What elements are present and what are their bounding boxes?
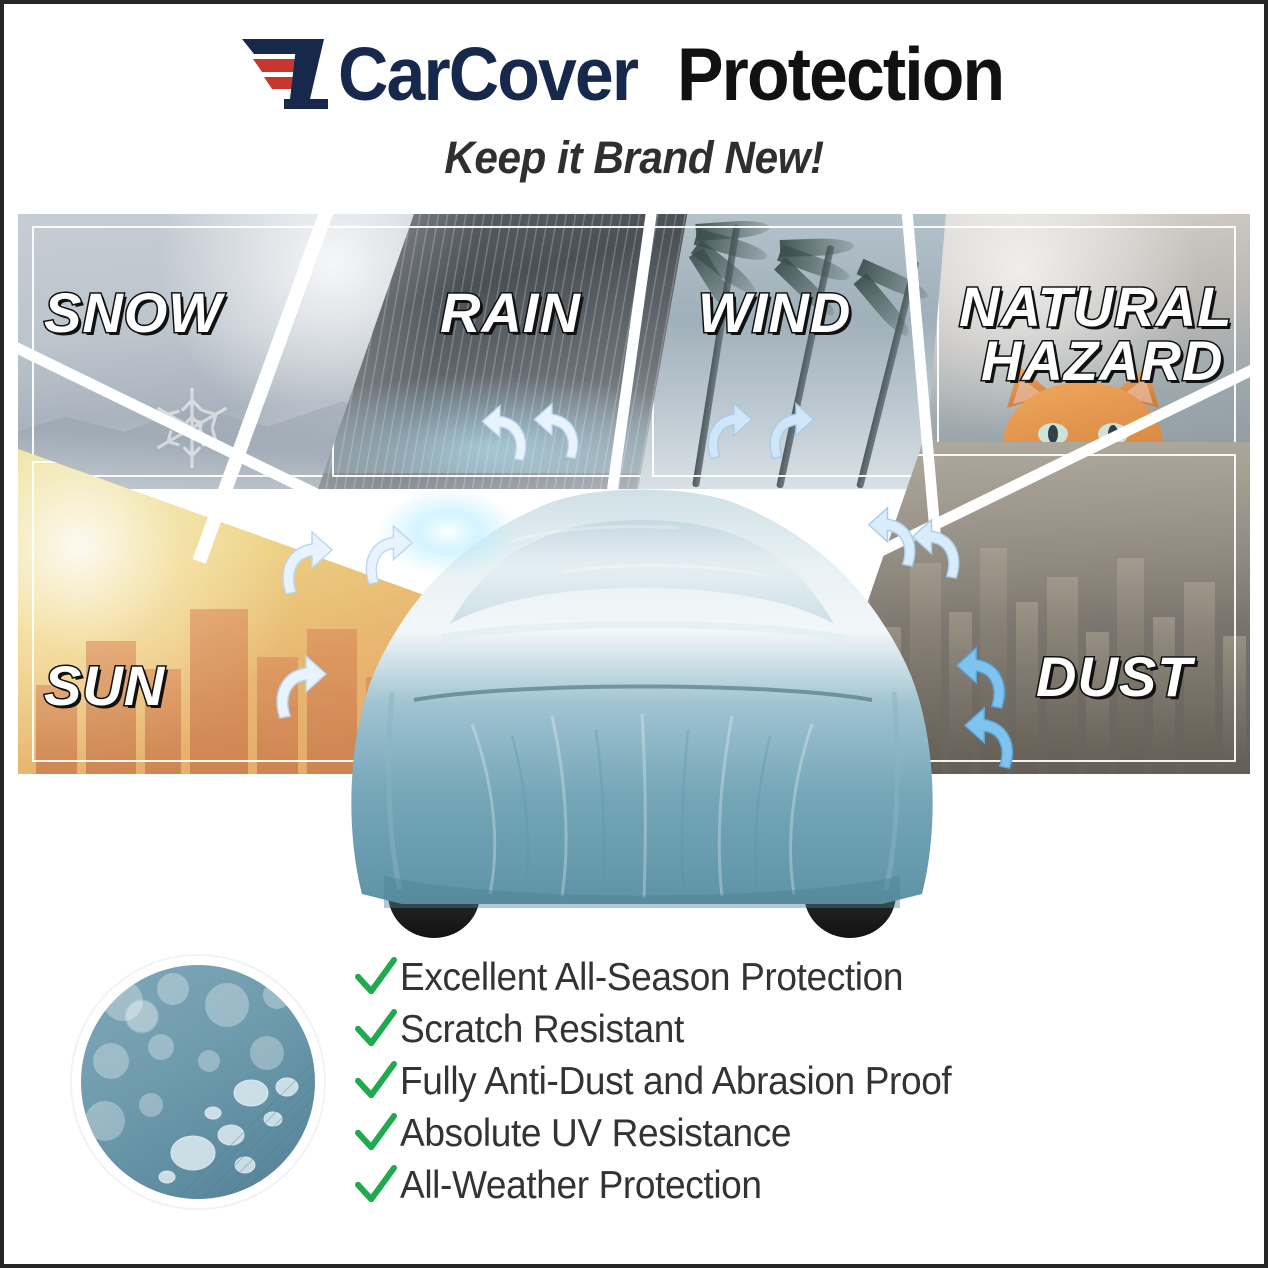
one-car-cover-logo-icon [240,37,336,111]
bounce-arrow-icon [962,704,1024,772]
green-check-icon [352,1110,400,1158]
bounce-arrow-icon [910,516,970,582]
green-check-icon [352,1162,400,1210]
panel-label-dust: DUST [1036,650,1192,705]
page-header: CarCover Protection Keep it Brand New! [4,4,1264,200]
bounce-arrow-icon [532,400,588,462]
bounce-arrow-icon [698,400,754,462]
tagline: Keep it Brand New! [42,132,1226,184]
benefits-section: Excellent All-Season Protection Scratch … [4,934,1264,1264]
panel-label-hazard-2: HAZARD [981,334,1223,389]
list-item: Excellent All-Season Protection [352,952,1172,1004]
list-item: Fully Anti-Dust and Abrasion Proof [352,1056,1172,1108]
brand-suffix: Protection [677,37,1003,112]
feature-label: All-Weather Protection [400,1164,762,1208]
water-bead-fabric-swatch [72,956,324,1208]
bounce-arrow-icon [272,528,334,598]
list-item: Scratch Resistant [352,1004,1172,1056]
bounce-arrow-icon [480,402,536,464]
panel-label-snow: SNOW [44,286,222,341]
bounce-arrow-icon [266,652,328,722]
feature-label: Absolute UV Resistance [400,1112,791,1156]
green-check-icon [352,1006,400,1054]
panel-label-rain: RAIN [440,286,581,341]
feature-label: Excellent All-Season Protection [400,956,903,1000]
green-check-icon [352,1058,400,1106]
bounce-arrow-icon [760,400,816,462]
list-item: All-Weather Protection [352,1160,1172,1212]
list-item: Absolute UV Resistance [352,1108,1172,1160]
panel-label-wind: WIND [698,286,851,341]
feature-label: Scratch Resistant [400,1008,684,1052]
panel-label-hazard: NATURAL [959,280,1232,335]
feature-label: Fully Anti-Dust and Abrasion Proof [400,1060,951,1104]
green-check-icon [352,954,400,1002]
feature-list: Excellent All-Season Protection Scratch … [352,952,1172,1212]
car-cover-illustration [322,424,962,949]
bounce-arrow-icon [954,644,1016,712]
brand-lockup: CarCover Protection [4,30,1264,118]
panel-label-sun: SUN [44,659,165,714]
bounce-arrow-icon [356,522,414,588]
brand-name: CarCover [338,37,637,112]
